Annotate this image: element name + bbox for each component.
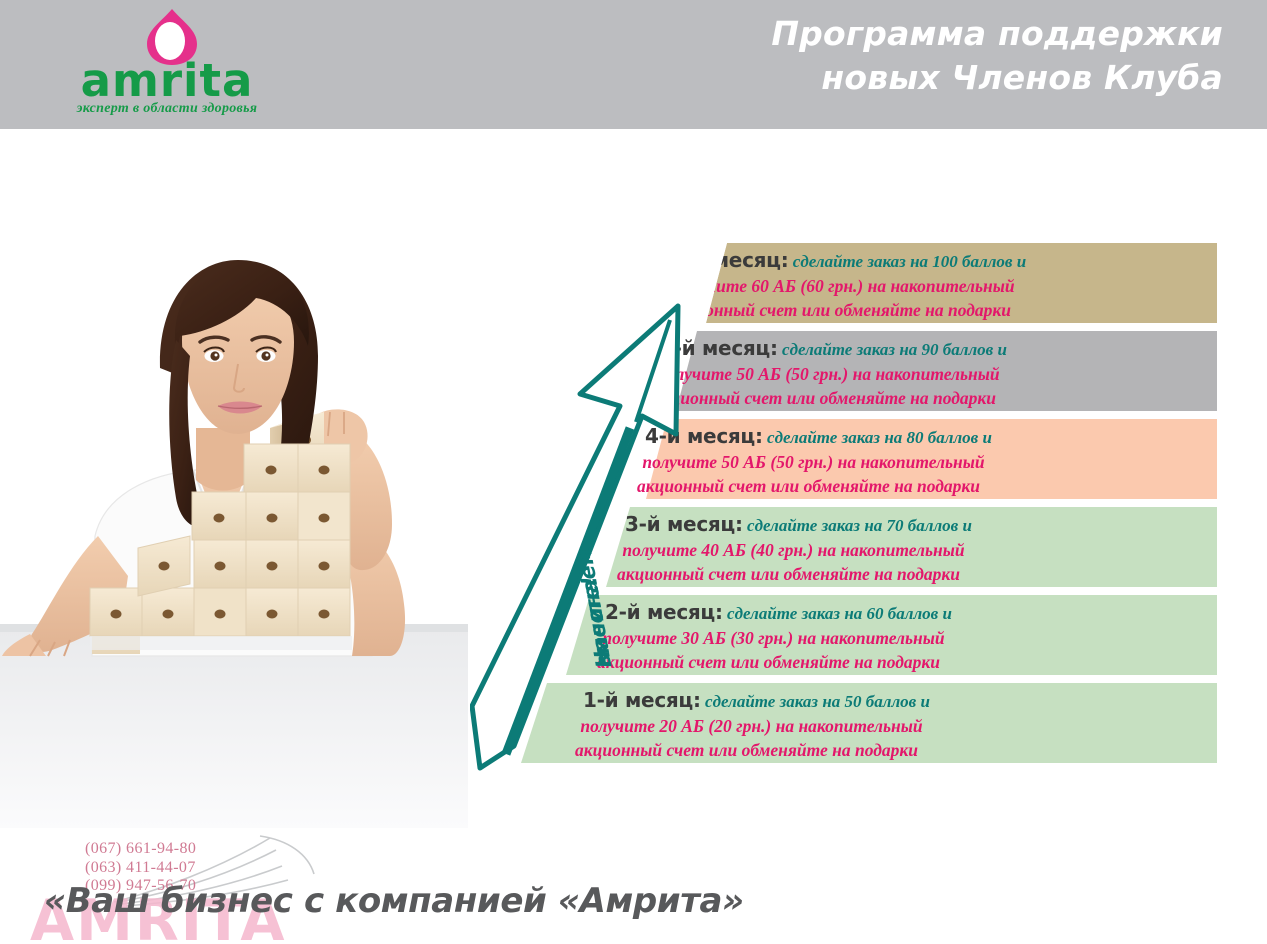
step-requirement: сделайте заказ на 70 баллов и bbox=[747, 516, 972, 535]
phone-2[interactable]: (063) 411-44-07 bbox=[85, 859, 196, 878]
footer-tagline: «Ваш бизнес с компанией «Амрита» bbox=[44, 884, 744, 918]
step-requirement: сделайте заказ на 80 баллов и bbox=[767, 428, 992, 447]
step-requirement: сделайте заказ на 100 баллов и bbox=[793, 252, 1026, 271]
step-requirement: сделайте заказ на 50 баллов и bbox=[705, 692, 930, 711]
upward-arrow bbox=[470, 276, 730, 776]
step-requirement: сделайте заказ на 90 баллов и bbox=[782, 340, 1007, 359]
step-month-label: 6-й месяц: bbox=[671, 248, 789, 272]
step-requirement: сделайте заказ на 60 баллов и bbox=[727, 604, 952, 623]
arrow-up-right-icon bbox=[470, 276, 730, 776]
phone-1[interactable]: (067) 661-94-80 bbox=[85, 840, 196, 859]
step-line-1: 6-й месяц: сделайте заказ на 100 баллов … bbox=[0, 248, 1217, 274]
slide-root: amrita эксперт в области здоровья Програ… bbox=[0, 0, 1267, 944]
